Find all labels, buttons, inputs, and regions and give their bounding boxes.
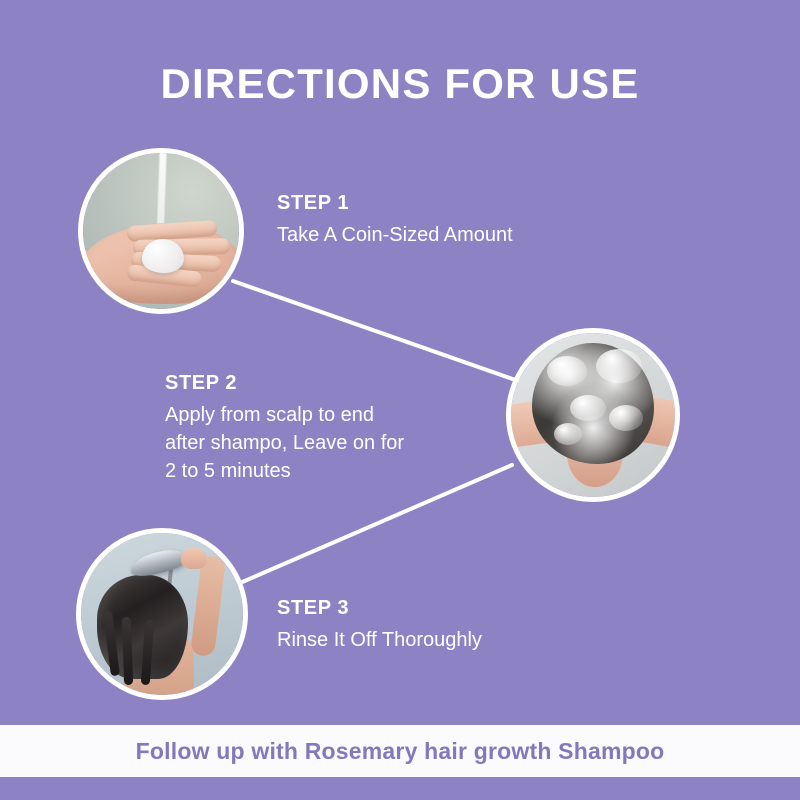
page-title: DIRECTIONS FOR USE [0,60,800,108]
rinsing-hair-photo [81,533,243,695]
step-1-description: Take A Coin-Sized Amount [277,221,607,249]
hand-shape [181,548,207,569]
step-2-description: Apply from scalp to end after shampo, Le… [165,401,465,485]
directions-for-use-poster: DIRECTIONS FOR USE [0,0,800,800]
hand-with-shampoo-photo [83,153,239,309]
step-3-text-block: STEP 3 Rinse It Off Thoroughly [277,597,607,654]
step-2-image-circle [506,328,680,502]
connector-step1-to-step2 [233,281,524,383]
step-3-label: STEP 3 [277,597,607,620]
lathering-hair-photo [511,333,675,497]
suds-bubble [554,423,582,445]
step-2-label: STEP 2 [165,372,465,395]
step-2-description-line: 2 to 5 minutes [165,457,465,485]
step-2-text-block: STEP 2 Apply from scalp to end after sha… [165,372,465,485]
step-1-image-circle [78,148,244,314]
step-1-text-block: STEP 1 Take A Coin-Sized Amount [277,192,607,249]
footer-banner: Follow up with Rosemary hair growth Sham… [0,725,800,777]
step-1-label: STEP 1 [277,192,607,215]
shampoo-blob [142,239,184,273]
step-3-description: Rinse It Off Thoroughly [277,626,607,654]
suds-bubble [547,356,587,386]
step-3-image-circle [76,528,248,700]
step-2-description-line: Apply from scalp to end [165,401,465,429]
step-2-description-line: after shampo, Leave on for [165,429,465,457]
footer-banner-text: Follow up with Rosemary hair growth Sham… [136,738,665,765]
